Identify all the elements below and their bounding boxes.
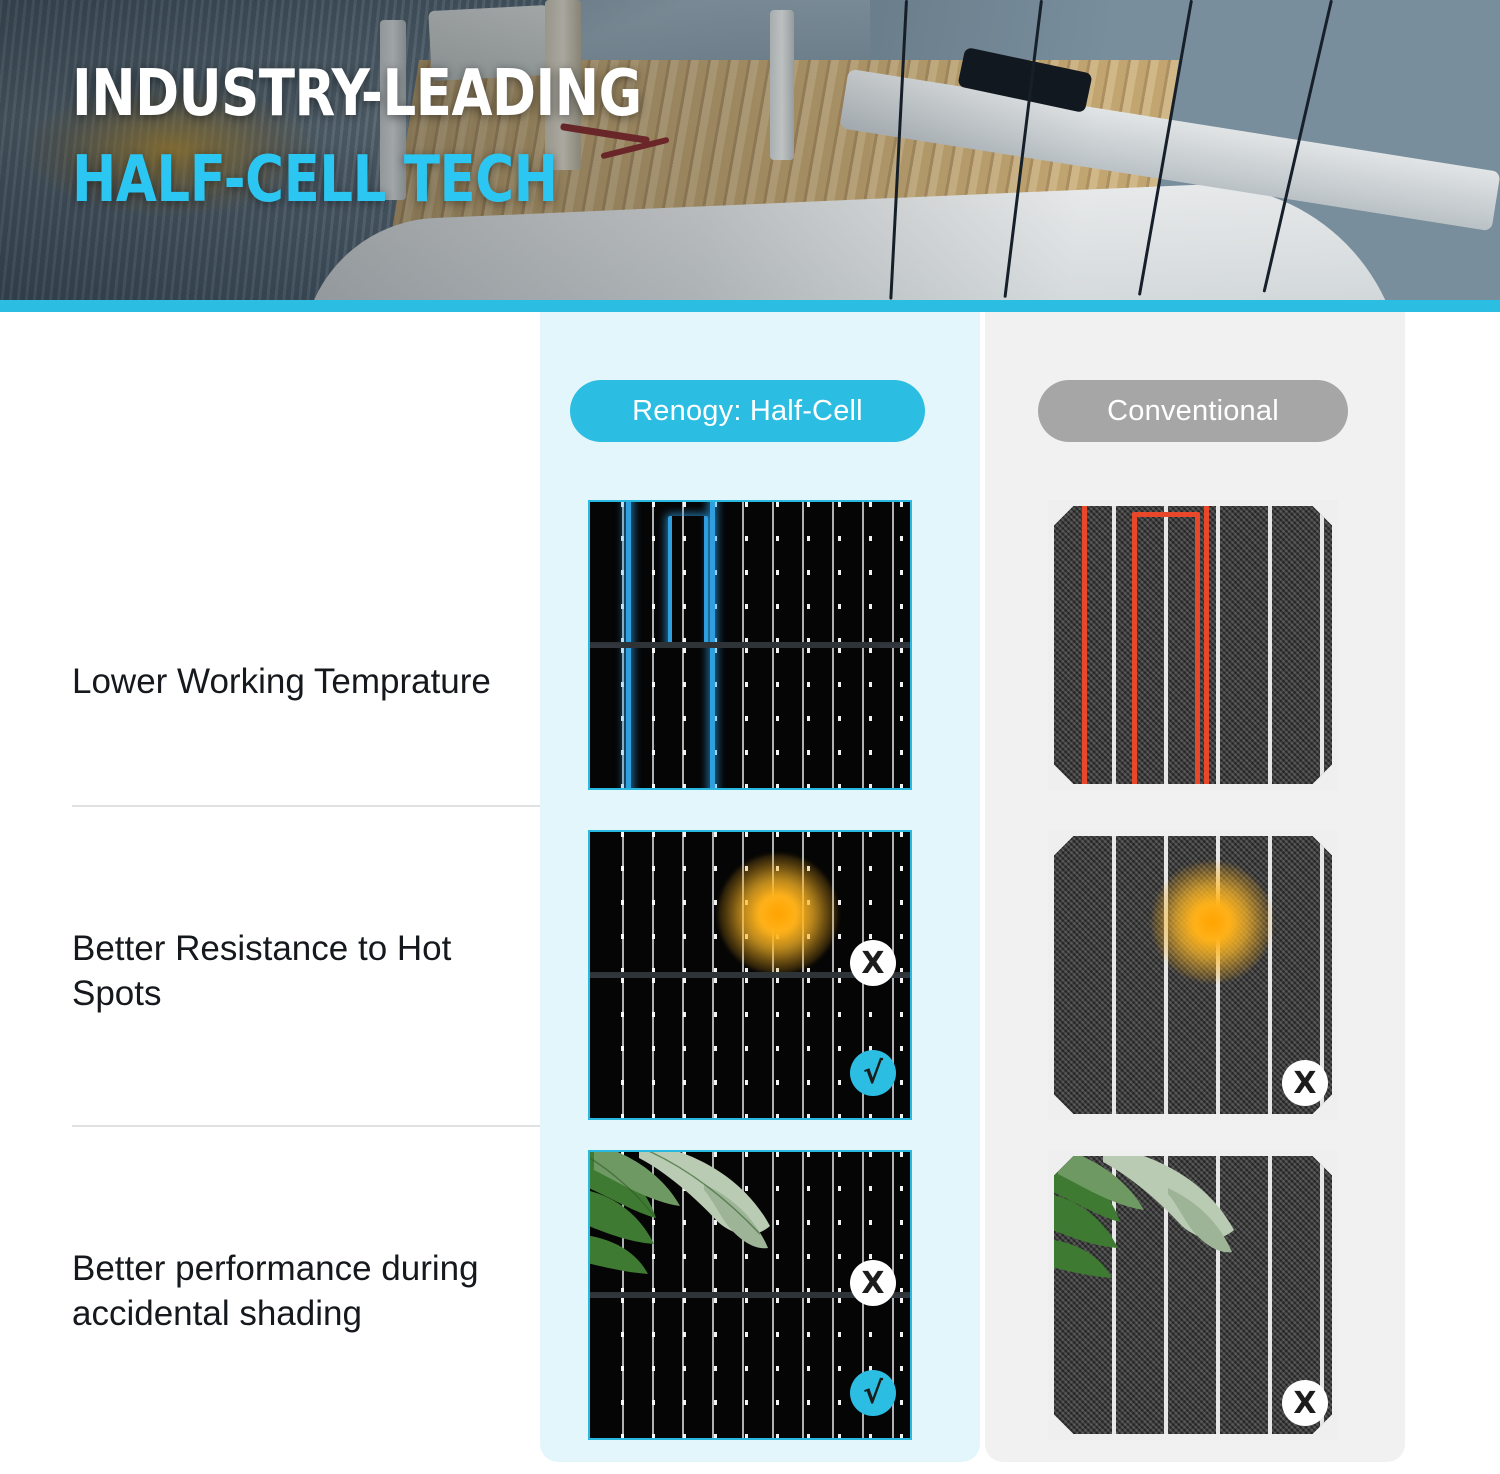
- row-divider-2: [72, 1125, 540, 1127]
- x-icon: X: [850, 1260, 896, 1306]
- current-trace: [1132, 512, 1200, 784]
- column-header-conventional[interactable]: Conventional: [1038, 380, 1348, 442]
- feature-label-3: Better performance during accidental sha…: [72, 1247, 540, 1337]
- row-divider-1: [72, 805, 540, 807]
- current-trace: [710, 648, 715, 788]
- hero-banner: INDUSTRY-LEADING HALF-CELL TECH: [0, 0, 1500, 300]
- half-cell-diagram: [588, 500, 912, 790]
- conventional-cell-diagram: [1048, 500, 1338, 790]
- hot-spot-glow: [1152, 862, 1272, 982]
- check-icon: √: [850, 1050, 896, 1096]
- hero-headline: INDUSTRY-LEADING HALF-CELL TECH: [72, 62, 691, 212]
- cell-image-renogy-row3: X √: [588, 1150, 912, 1440]
- current-trace: [1082, 506, 1087, 784]
- feature-row-2: Better Resistance to Hot Spots: [72, 872, 540, 1072]
- busbar-dots: [590, 502, 910, 642]
- headline-line-2: HALF-CELL TECH: [72, 148, 642, 212]
- x-icon: X: [1282, 1380, 1328, 1426]
- headline-line-1: INDUSTRY-LEADING: [72, 62, 642, 126]
- current-trace: [626, 648, 631, 788]
- hot-spot-glow: [718, 854, 838, 972]
- busbar-dots: [590, 648, 910, 788]
- feature-label-column: Lower Working Temprature Better Resistan…: [0, 312, 540, 1462]
- infographic-root: INDUSTRY-LEADING HALF-CELL TECH Lower Wo…: [0, 0, 1500, 1474]
- comparison-table: Lower Working Temprature Better Resistan…: [0, 312, 1500, 1474]
- current-trace: [626, 502, 631, 642]
- current-trace: [710, 502, 715, 642]
- half-cell-diagram: X √: [588, 830, 912, 1120]
- cell-image-renogy-row1: [588, 500, 912, 790]
- cell-image-renogy-row2: X √: [588, 830, 912, 1120]
- feature-label-1: Lower Working Temprature: [72, 660, 491, 705]
- conventional-cell-diagram: X: [1048, 830, 1338, 1120]
- column-header-renogy[interactable]: Renogy: Half-Cell: [570, 380, 925, 442]
- current-trace: [1204, 506, 1209, 784]
- cell-image-conventional-row3: X: [1048, 1150, 1338, 1440]
- feature-row-1: Lower Working Temprature: [72, 582, 540, 782]
- current-trace: [668, 516, 708, 642]
- conventional-cell-diagram: X: [1048, 1150, 1338, 1440]
- cell-image-conventional-row1: [1048, 500, 1338, 790]
- x-icon: X: [850, 940, 896, 986]
- accent-bar: [0, 300, 1500, 312]
- feature-label-2: Better Resistance to Hot Spots: [72, 927, 540, 1017]
- feature-row-3: Better performance during accidental sha…: [72, 1172, 540, 1412]
- half-cell-diagram: X √: [588, 1150, 912, 1440]
- cell-image-conventional-row2: X: [1048, 830, 1338, 1120]
- x-icon: X: [1282, 1060, 1328, 1106]
- check-icon: √: [850, 1370, 896, 1416]
